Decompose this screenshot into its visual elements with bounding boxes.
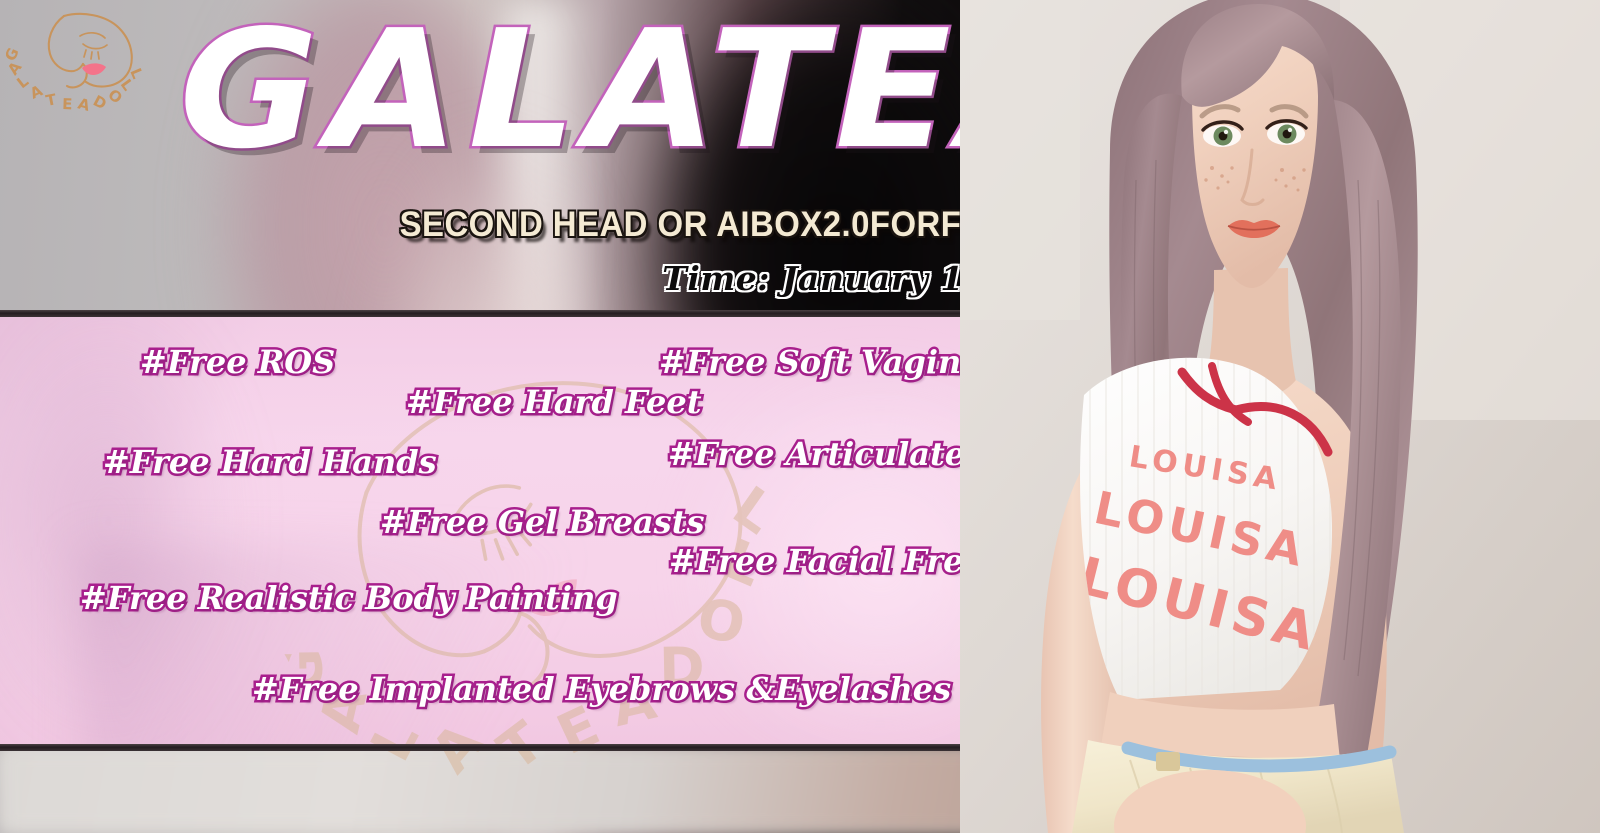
promo-banner: G A L A T E A D O L L bbox=[0, 0, 1600, 833]
svg-text:E: E bbox=[62, 95, 74, 112]
perk-tag: #Free Hard Feet bbox=[406, 381, 702, 423]
perk-tag: #Free Soft Vagina bbox=[659, 341, 982, 383]
perk-tag: #Free ROS bbox=[140, 341, 335, 383]
perk-tag: #Free Articulated bbox=[668, 433, 987, 475]
perk-tag: #Free Implanted Eyebrows &Eyelashes bbox=[252, 668, 951, 710]
perk-tag: #Free Gel Breasts bbox=[380, 501, 704, 543]
perk-tag: #Free Realistic Body Painting bbox=[80, 577, 618, 619]
perk-tag: #Free Hard Hands bbox=[103, 441, 437, 483]
doll-photo: LOUISA LOUISA LOUISA bbox=[960, 0, 1600, 833]
svg-text:A: A bbox=[76, 94, 93, 112]
svg-text:T: T bbox=[44, 90, 58, 110]
